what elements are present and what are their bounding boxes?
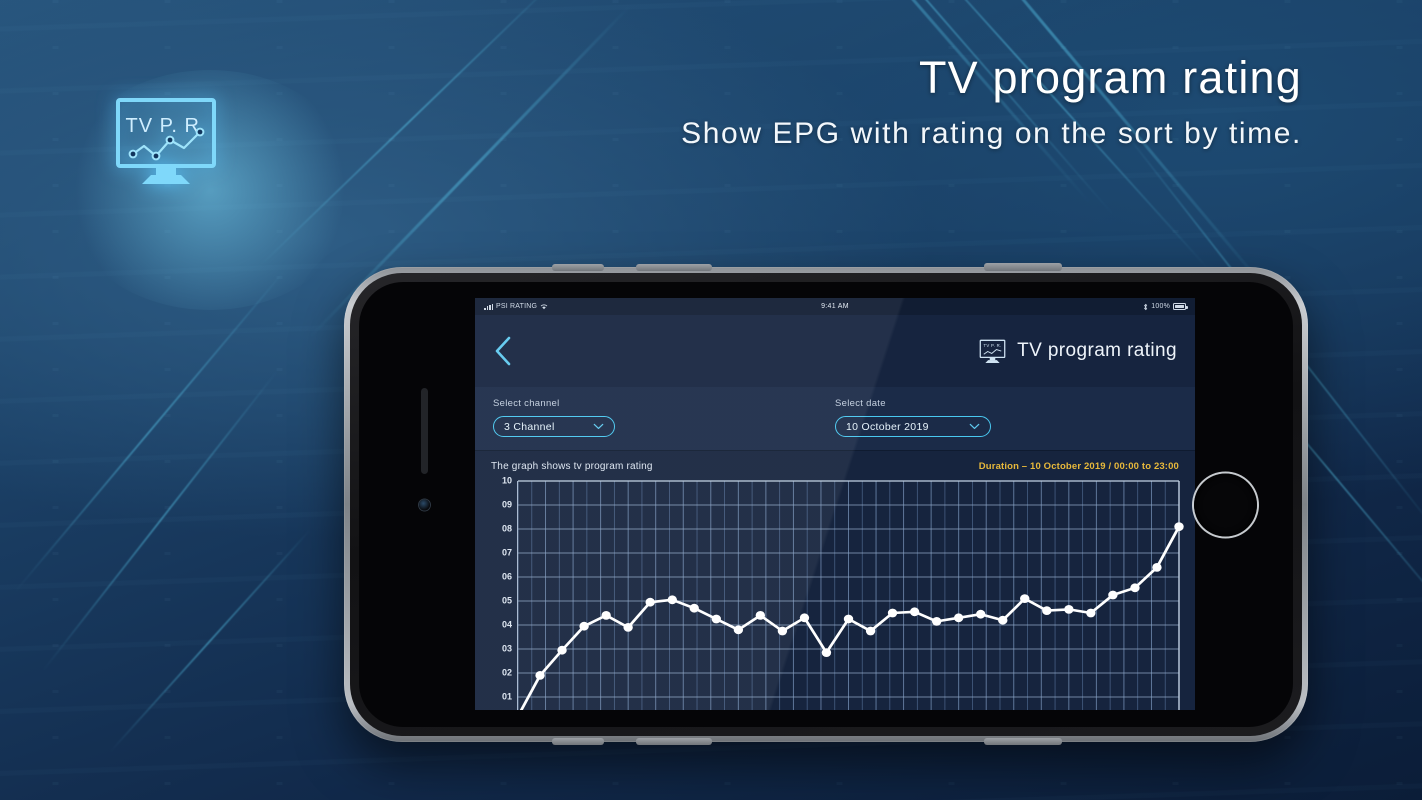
chart-data-point: [844, 615, 853, 624]
chart-data-point: [1108, 591, 1117, 600]
chart-plot-area: [517, 481, 1179, 710]
chart-plot-wrapper: 10090807060504030201: [491, 481, 1179, 710]
select-date-label: Select date: [835, 398, 1177, 409]
y-axis-tick: 08: [502, 525, 512, 534]
y-axis-tick: 04: [502, 621, 512, 630]
chevron-down-icon: [593, 423, 604, 430]
selector-bar: Select channel 3 Channel Select date 10 …: [475, 387, 1195, 451]
chart-data-point: [712, 615, 721, 624]
y-axis-tick: 03: [502, 645, 512, 654]
select-channel-label: Select channel: [493, 398, 835, 409]
chart-data-point: [1042, 606, 1051, 615]
home-button[interactable]: [1194, 473, 1257, 536]
chart-data-point: [756, 611, 765, 620]
volume-up-button[interactable]: [636, 264, 712, 271]
chevron-left-icon: [493, 335, 514, 367]
chart-data-point: [601, 611, 610, 620]
chart-data-point: [579, 622, 588, 631]
chart-y-axis: 10090807060504030201: [491, 481, 517, 710]
chart-data-point: [998, 616, 1007, 625]
front-camera: [419, 499, 430, 510]
power-button[interactable]: [984, 263, 1062, 271]
y-axis-tick: 06: [502, 573, 512, 582]
svg-text:TV P. R.: TV P. R.: [126, 115, 207, 137]
chart-data-point: [976, 610, 985, 619]
chart-data-point: [1130, 583, 1139, 592]
channel-dropdown-value: 3 Channel: [504, 421, 555, 433]
chart-data-point: [646, 598, 655, 607]
back-button[interactable]: [493, 335, 514, 367]
bottom-port: [636, 738, 712, 745]
chart-data-point: [888, 609, 897, 618]
y-axis-tick: 01: [502, 693, 512, 702]
header-title-group: TV P. R. TV program rating: [979, 339, 1177, 364]
date-dropdown[interactable]: 10 October 2019: [835, 416, 991, 437]
monitor-chart-icon: TV P. R.: [113, 96, 219, 188]
volume-down-button[interactable]: [552, 738, 604, 745]
date-selector-group: Select date 10 October 2019: [835, 398, 1177, 437]
y-axis-tick: 05: [502, 597, 512, 606]
carrier-label: PSI RATING: [496, 303, 537, 310]
y-axis-tick: 02: [502, 669, 512, 678]
promo-headline-block: TV program rating Show EPG with rating o…: [681, 54, 1302, 151]
chart-data-point: [557, 646, 566, 655]
signal-bars-icon: [484, 304, 493, 310]
app-screen: PSI RATING 9:41 AM 100%: [475, 298, 1195, 710]
chart-data-point: [623, 623, 632, 632]
chart-data-point: [910, 607, 919, 616]
ios-status-bar: PSI RATING 9:41 AM 100%: [475, 298, 1195, 315]
chart-data-point: [668, 595, 677, 604]
chart-data-point: [866, 627, 875, 636]
chart-data-point: [954, 613, 963, 622]
brand-logo: TV P. R.: [113, 96, 219, 188]
phone-mockup: PSI RATING 9:41 AM 100%: [344, 267, 1308, 742]
chart-card: The graph shows tv program rating Durati…: [475, 451, 1195, 710]
channel-dropdown[interactable]: 3 Channel: [493, 416, 615, 437]
chart-data-point: [690, 604, 699, 613]
phone-inner-frame: PSI RATING 9:41 AM 100%: [350, 273, 1302, 736]
date-dropdown-value: 10 October 2019: [846, 421, 929, 433]
svg-text:TV P. R.: TV P. R.: [984, 343, 1002, 348]
phone-bezel: PSI RATING 9:41 AM 100%: [359, 282, 1293, 727]
wifi-icon: [540, 303, 548, 310]
channel-selector-group: Select channel 3 Channel: [493, 398, 835, 437]
chart-svg: [518, 481, 1179, 710]
chart-data-point: [778, 627, 787, 636]
battery-full-icon: [1173, 303, 1186, 310]
battery-percent-label: 100%: [1151, 303, 1170, 310]
chart-header: The graph shows tv program rating Durati…: [491, 461, 1179, 472]
mute-switch[interactable]: [552, 264, 604, 271]
chart-data-point: [1152, 563, 1161, 572]
chevron-down-icon: [969, 423, 980, 430]
status-time: 9:41 AM: [821, 303, 849, 310]
chart-data-point: [535, 671, 544, 680]
chart-data-point: [800, 613, 809, 622]
page-title: TV program rating: [1017, 340, 1177, 362]
chart-data-point: [822, 648, 831, 657]
chart-data-point: [932, 617, 941, 626]
monitor-chart-icon: TV P. R.: [979, 339, 1006, 364]
app-header: TV P. R. TV program rating: [475, 315, 1195, 387]
chart-data-point: [1064, 605, 1073, 614]
page-subtitle: Show EPG with rating on the sort by time…: [681, 117, 1302, 151]
earpiece-speaker: [421, 388, 428, 474]
chart-data-point: [1020, 594, 1029, 603]
chart-caption: The graph shows tv program rating: [491, 461, 653, 472]
y-axis-tick: 10: [502, 477, 512, 486]
chart-data-point: [1174, 522, 1183, 531]
bottom-speaker: [984, 738, 1062, 745]
chart-data-point: [1086, 609, 1095, 618]
y-axis-tick: 09: [502, 501, 512, 510]
bluetooth-icon: [1143, 303, 1148, 311]
page-title: TV program rating: [681, 54, 1302, 103]
chart-duration-label: Duration – 10 October 2019 / 00:00 to 23…: [979, 461, 1179, 472]
y-axis-tick: 07: [502, 549, 512, 558]
chart-data-point: [734, 625, 743, 634]
